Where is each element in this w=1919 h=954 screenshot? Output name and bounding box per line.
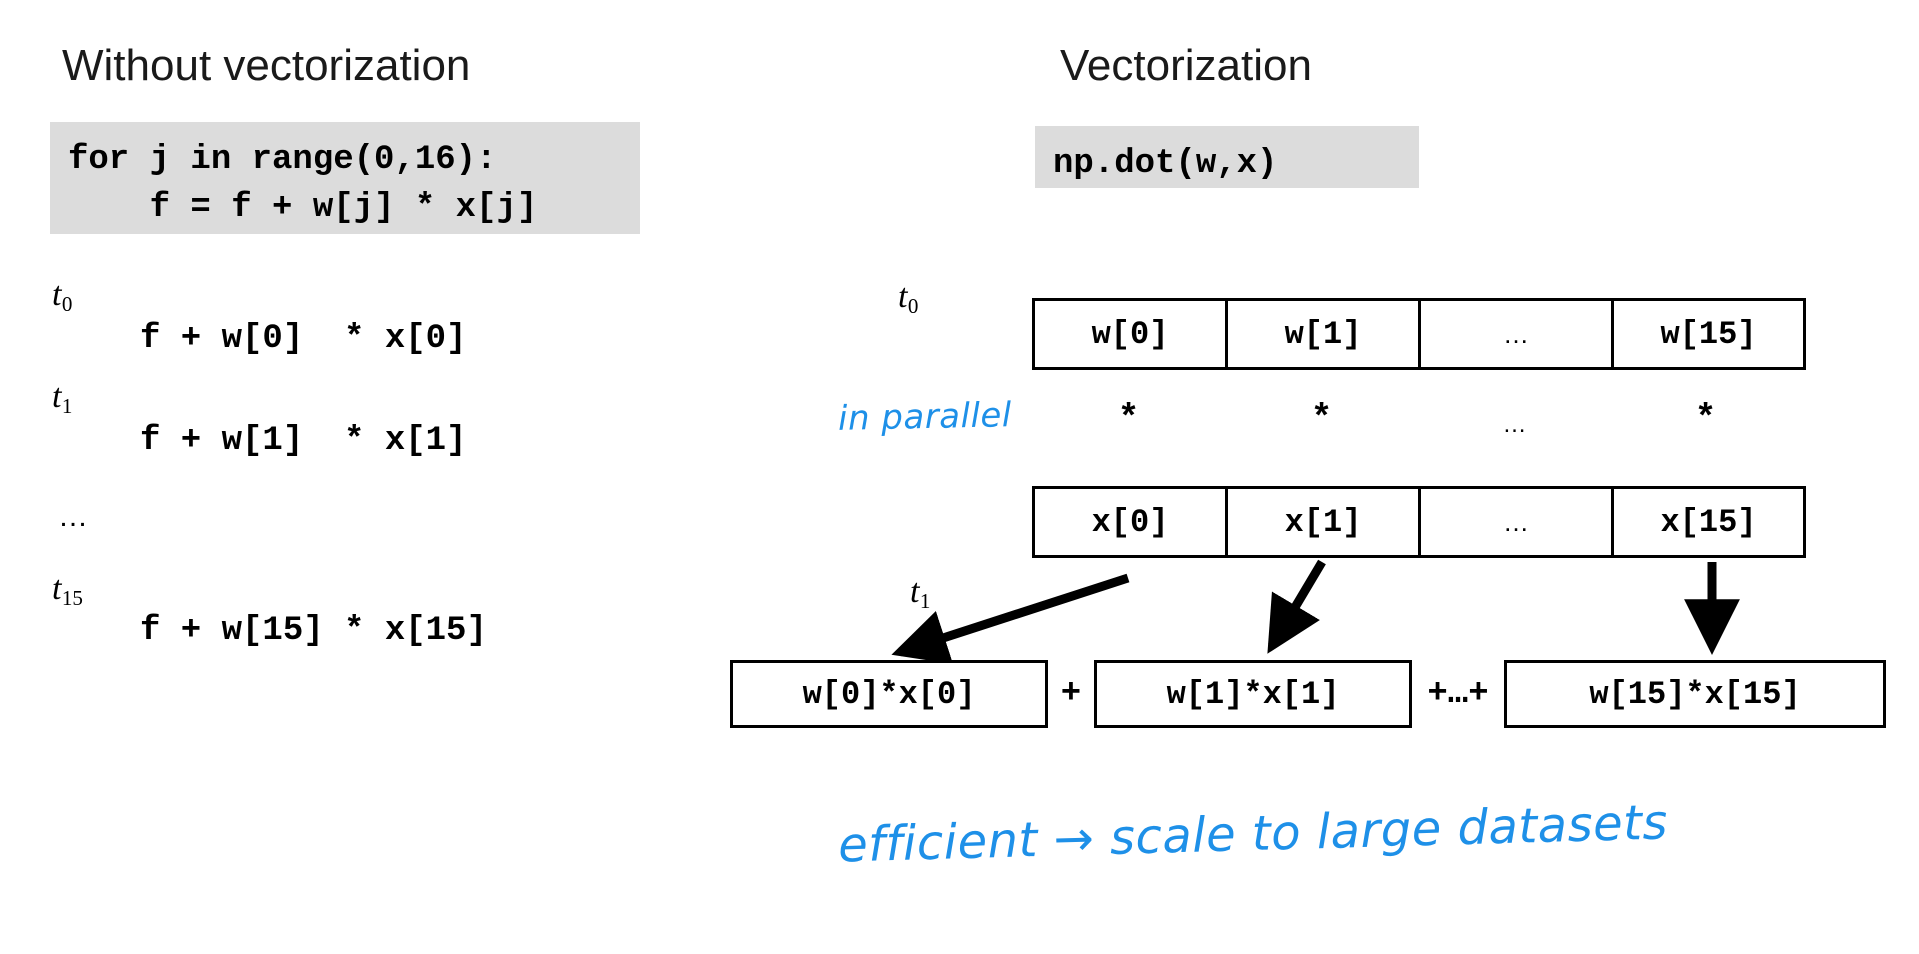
w-row-time-subscript: 0 xyxy=(908,294,919,318)
left-step-0-time-label: t0 xyxy=(52,278,72,312)
sum-separator-1: +…+ xyxy=(1412,660,1504,728)
left-column-title: Without vectorization xyxy=(62,44,470,88)
w-cell-ellipsis: … xyxy=(1421,301,1614,367)
left-step-1-time-letter: t xyxy=(52,378,61,415)
left-step-last-time-subscript: 15 xyxy=(62,586,83,610)
right-column-title: Vectorization xyxy=(1060,44,1312,88)
left-steps-ellipsis: … xyxy=(58,502,88,532)
result-sum-row: w[0]*x[0] + w[1]*x[1] +…+ w[15]*x[15] xyxy=(730,660,1886,728)
result-row-time-letter: t xyxy=(910,573,919,610)
operator-ellipsis: … xyxy=(1418,401,1611,437)
operator-1: * xyxy=(1225,401,1418,437)
w-cell-0: w[0] xyxy=(1035,301,1228,367)
x-cell-0: x[0] xyxy=(1035,489,1228,555)
product-box-0: w[0]*x[0] xyxy=(730,660,1048,728)
x-cell-ellipsis: … xyxy=(1421,489,1614,555)
in-parallel-annotation: in parallel xyxy=(838,398,1012,436)
x-array-row: x[0] x[1] … x[15] xyxy=(1032,486,1806,558)
left-step-last-time-letter: t xyxy=(52,570,61,607)
left-step-1-expression: f + w[1] * x[1] xyxy=(140,424,466,458)
left-step-0-time-subscript: 0 xyxy=(62,292,73,316)
left-step-0-time-letter: t xyxy=(52,276,61,313)
efficient-scale-annotation: efficient → scale to large datasets xyxy=(837,798,1668,869)
w-cell-15: w[15] xyxy=(1614,301,1803,367)
left-step-0-expression: f + w[0] * x[0] xyxy=(140,322,466,356)
operator-15: * xyxy=(1611,401,1800,437)
arrow-to-product-0 xyxy=(900,578,1128,652)
w-cell-1: w[1] xyxy=(1228,301,1421,367)
result-row-time-label: t1 xyxy=(910,575,930,609)
w-row-time-letter: t xyxy=(898,278,907,315)
right-code-block: np.dot(w,x) xyxy=(1035,126,1419,188)
w-array-row: w[0] w[1] … w[15] xyxy=(1032,298,1806,370)
left-step-last-expression: f + w[15] * x[15] xyxy=(140,614,487,648)
x-cell-15: x[15] xyxy=(1614,489,1803,555)
left-step-1-time-label: t1 xyxy=(52,380,72,414)
product-box-1: w[1]*x[1] xyxy=(1094,660,1412,728)
result-row-time-subscript: 1 xyxy=(920,589,931,613)
arrow-to-product-1 xyxy=(1272,562,1322,646)
w-row-time-label: t0 xyxy=(898,280,918,314)
operator-0: * xyxy=(1032,401,1225,437)
operator-strip: * * … * xyxy=(1032,395,1806,443)
left-code-block: for j in range(0,16): f = f + w[j] * x[j… xyxy=(50,122,640,234)
x-cell-1: x[1] xyxy=(1228,489,1421,555)
sum-separator-0: + xyxy=(1048,660,1094,728)
left-step-1-time-subscript: 1 xyxy=(62,394,73,418)
product-box-15: w[15]*x[15] xyxy=(1504,660,1886,728)
left-step-last-time-label: t15 xyxy=(52,572,83,606)
